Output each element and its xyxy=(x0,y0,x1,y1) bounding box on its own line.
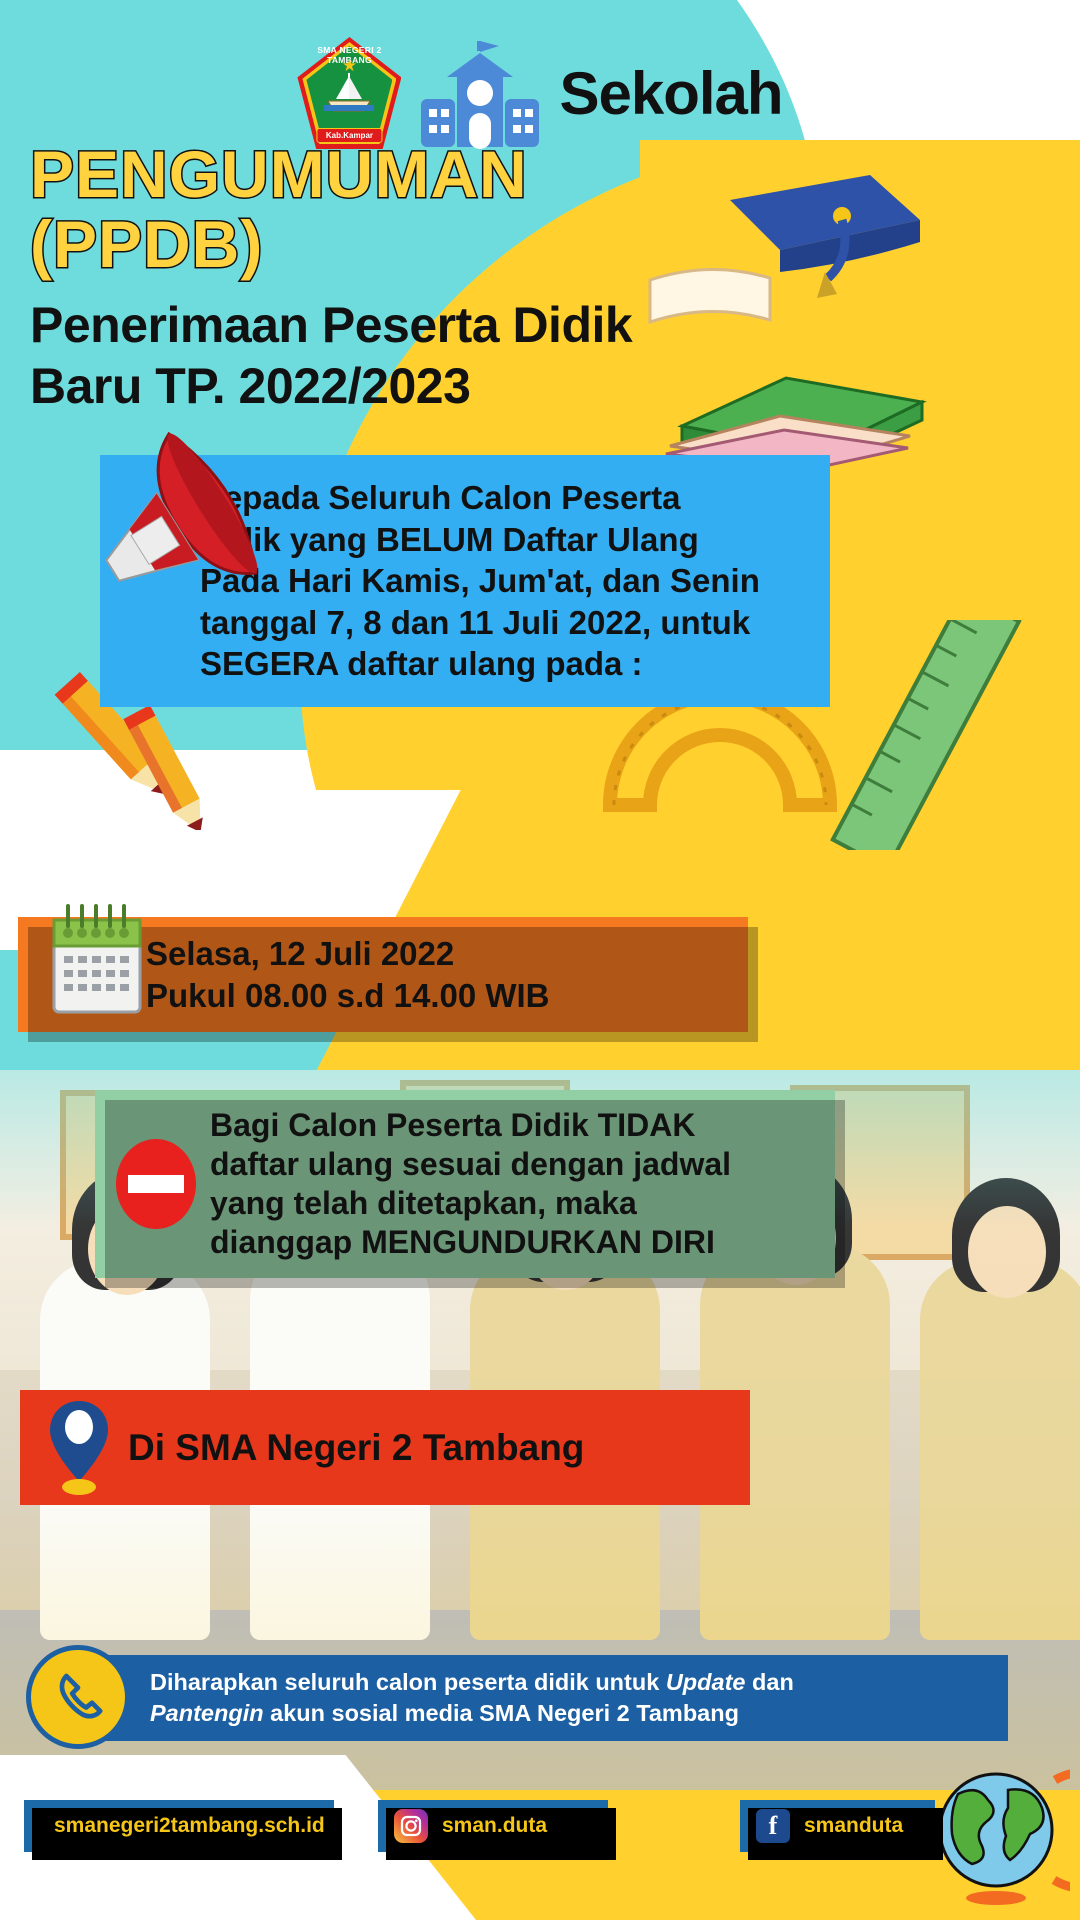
note-line-2-text: akun sosial media SMA Negeri 2 Tambang xyxy=(264,1700,739,1726)
globe-decoration-icon xyxy=(930,1760,1070,1905)
header-word-sekolah: Sekolah xyxy=(559,59,782,128)
map-pin-icon xyxy=(48,1399,110,1497)
blue-box-line-3: Pada Hari Kamis, Jum'at, dan Senin xyxy=(200,560,760,602)
note-line-1: Diharapkan seluruh calon peserta didik u… xyxy=(150,1667,988,1698)
title-block: PENGUMUMAN (PPDB) Penerimaan Peserta Did… xyxy=(30,140,750,416)
poster-canvas: SMA NEGERI 2 TAMBANG ★ Kab.Kampar xyxy=(0,0,1080,1920)
location-red-box: Di SMA Negeri 2 Tambang xyxy=(20,1390,750,1505)
phone-icon xyxy=(26,1645,130,1749)
megaphone-icon xyxy=(70,430,270,630)
footer-instagram-bar[interactable]: sman.duta xyxy=(378,1800,608,1852)
facebook-icon: f xyxy=(756,1809,790,1843)
warning-green-box: Bagi Calon Peserta Didik TIDAK daftar ul… xyxy=(95,1090,835,1278)
footer-facebook-bar[interactable]: f smanduta xyxy=(740,1800,935,1852)
footer-website-bar[interactable]: smanegeri2tambang.sch.id xyxy=(24,1800,334,1852)
orange-box-line-1: Selasa, 12 Juli 2022 xyxy=(146,933,550,974)
note-line-2: Pantengin akun sosial media SMA Negeri 2… xyxy=(150,1698,988,1729)
footer-website-label: smanegeri2tambang.sch.id xyxy=(54,1814,325,1838)
note-line-1-text-b: dan xyxy=(745,1669,793,1695)
phone-handset-icon xyxy=(50,1669,106,1725)
green-box-line-2: daftar ulang sesuai dengan jadwal xyxy=(210,1145,731,1184)
blue-box-line-5: SEGERA daftar ulang pada : xyxy=(200,643,760,685)
blue-box-line-2: Didik yang BELUM Daftar Ulang xyxy=(200,519,760,561)
school-building-icon xyxy=(419,37,541,149)
school-crest-icon: SMA NEGERI 2 TAMBANG ★ Kab.Kampar xyxy=(297,37,401,149)
note-line-1-text-a: Diharapkan seluruh calon peserta didik u… xyxy=(150,1669,666,1695)
title-ppdb: (PPDB) xyxy=(30,210,750,280)
footer-instagram-label: sman.duta xyxy=(442,1814,547,1838)
title-subtitle-line1: Penerimaan Peserta Didik xyxy=(30,296,750,355)
blue-box-line-1: Kepada Seluruh Calon Peserta xyxy=(200,477,760,519)
calendar-icon xyxy=(42,900,152,1020)
crest-ship-icon xyxy=(322,71,376,113)
social-media-note-banner: Diharapkan seluruh calon peserta didik u… xyxy=(68,1655,1008,1741)
instagram-icon xyxy=(394,1809,428,1843)
ruler-icon xyxy=(800,620,1080,850)
blue-box-line-4: tanggal 7, 8 dan 11 Juli 2022, untuk xyxy=(200,602,760,644)
green-box-line-4: dianggap MENGUNDURKAN DIRI xyxy=(210,1223,731,1262)
green-box-line-3: yang telah ditetapkan, maka xyxy=(210,1184,731,1223)
footer-facebook-label: smanduta xyxy=(804,1814,903,1838)
title-subtitle-line2: Baru TP. 2022/2023 xyxy=(30,357,750,416)
green-box-line-1: Bagi Calon Peserta Didik TIDAK xyxy=(210,1106,731,1145)
note-line-2-emphasis: Pantengin xyxy=(150,1700,264,1726)
title-pengumuman: PENGUMUMAN xyxy=(30,140,750,210)
no-entry-icon xyxy=(115,1138,197,1230)
orange-box-line-2: Pukul 08.00 s.d 14.00 WIB xyxy=(146,975,550,1016)
note-line-1-emphasis: Update xyxy=(666,1669,746,1695)
red-box-text: Di SMA Negeri 2 Tambang xyxy=(128,1427,584,1469)
